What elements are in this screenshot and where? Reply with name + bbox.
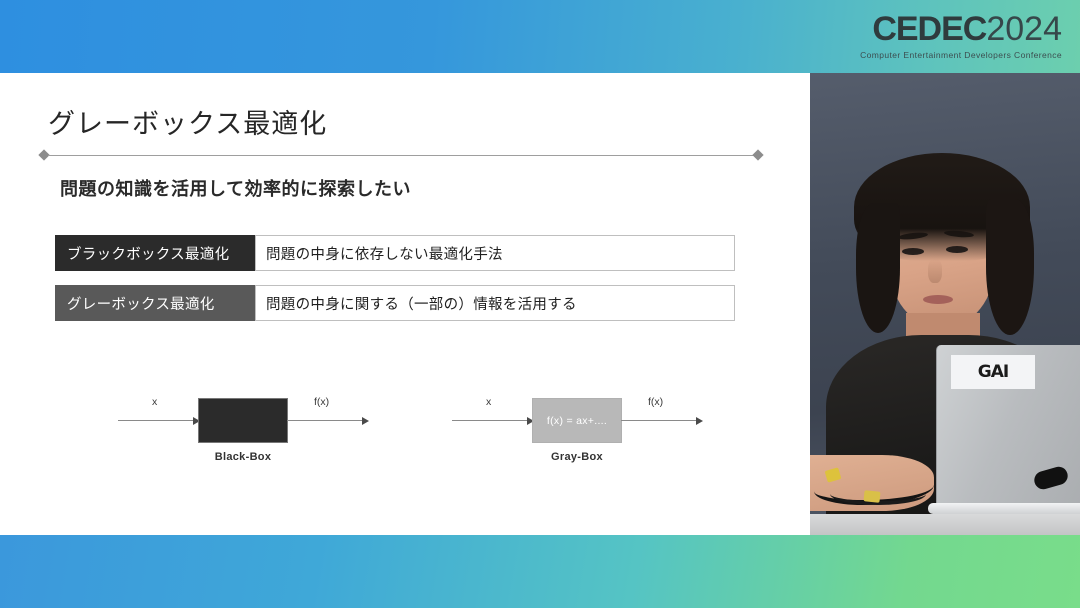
cedec-logo-text: CEDEC: [872, 12, 986, 46]
laptop-base: [928, 503, 1080, 514]
diagram-caption-graybox: Gray-Box: [452, 451, 702, 463]
diagram-box-formula: f(x) = ax+....: [547, 415, 607, 427]
diagram-box-blackbox: [198, 398, 288, 443]
slide-title: グレーボックス最適化: [48, 102, 327, 141]
diagram-input-label-blackbox: x: [152, 396, 157, 408]
definition-row-blackbox: ブラックボックス最適化 問題の中身に依存しない最適化手法: [55, 235, 735, 271]
diagram-output-label-graybox: f(x): [648, 396, 663, 408]
diagram-box-graybox: f(x) = ax+....: [532, 398, 622, 443]
cable-tie-two: [863, 490, 880, 503]
desk-surface: [810, 514, 1080, 535]
diagram-output-label-blackbox: f(x): [314, 396, 329, 408]
cedec-logo-year: 2024: [986, 12, 1062, 46]
arrow-shaft: [452, 420, 527, 421]
speaker-nose: [928, 259, 942, 283]
divider-line: [48, 155, 754, 157]
definition-row-graybox: グレーボックス最適化 問題の中身に関する（一部の）情報を活用する: [55, 285, 735, 321]
cedec-logo: CEDEC2024 Computer Entertainment Develop…: [852, 8, 1062, 64]
speaker-hair-side-left: [856, 203, 900, 333]
arrow-shaft: [621, 420, 696, 421]
definition-body-blackbox: 問題の中身に依存しない最適化手法: [255, 235, 735, 271]
diagram-caption-blackbox: Black-Box: [118, 451, 368, 463]
slide-sub-heading: 問題の知識を活用して効率的に探索したい: [60, 175, 411, 201]
speaker-mouth: [923, 295, 953, 304]
definition-label-graybox: グレーボックス最適化: [55, 285, 255, 321]
speaker-hair-side-right: [986, 199, 1034, 335]
definition-label-blackbox: ブラックボックス最適化: [55, 235, 255, 271]
top-banner: CEDEC2024 Computer Entertainment Develop…: [0, 0, 1080, 73]
arrow-shaft: [287, 420, 362, 421]
arrow-head-icon: [696, 417, 703, 425]
definition-body-graybox: 問題の中身に関する（一部の）情報を活用する: [255, 285, 735, 321]
speaker-video-panel: GAI: [810, 73, 1080, 535]
diamond-right-icon: [752, 149, 763, 160]
diagram-black-box: x f(x) Black-Box: [118, 373, 378, 473]
diagram-input-arrow-blackbox: [118, 419, 200, 422]
arrow-head-icon: [362, 417, 369, 425]
diagram-output-arrow-blackbox: [287, 419, 369, 422]
title-divider: [38, 150, 764, 160]
arrow-shaft: [118, 420, 193, 421]
laptop-sticker: GAI: [951, 355, 1035, 389]
diagram-input-label-graybox: x: [486, 396, 491, 408]
laptop-sticker-text: GAI: [978, 362, 1008, 382]
screen: CEDEC2024 Computer Entertainment Develop…: [0, 0, 1080, 608]
slide-area: グレーボックス最適化 問題の知識を活用して効率的に探索したい ブラックボックス最…: [0, 73, 810, 535]
cedec-logo-mark: CEDEC2024: [872, 12, 1062, 46]
cedec-logo-subtitle: Computer Entertainment Developers Confer…: [860, 50, 1062, 60]
diagram-gray-box: x f(x) f(x) = ax+.... Gray-Box: [452, 373, 712, 473]
diagram-input-arrow-graybox: [452, 419, 534, 422]
diagram-output-arrow-graybox: [621, 419, 703, 422]
